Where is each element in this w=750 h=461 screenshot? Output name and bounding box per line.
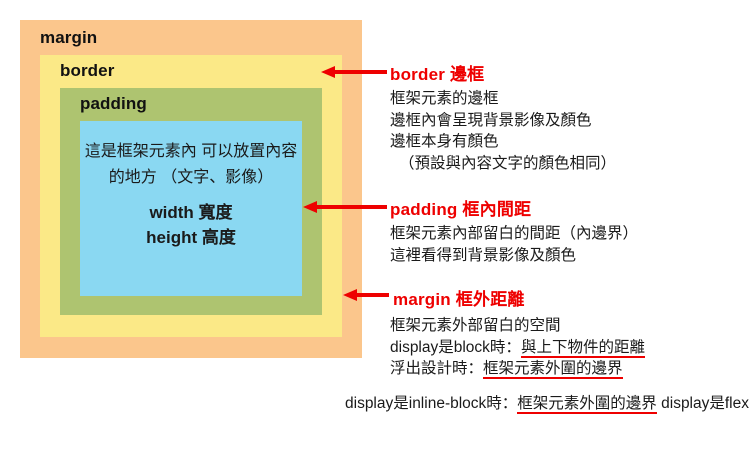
padding-annotation-heading: padding 框內間距 (390, 195, 531, 220)
border-annotation-line-2: 邊框內會呈現背景影像及顏色 (390, 110, 616, 132)
margin-annotation-body: 框架元素外部留白的空間 display是block時：與上下物件的距離 浮出設計… (390, 315, 645, 380)
margin-annotation-heading: margin 框外距離 (393, 285, 525, 310)
content-line-1: 這是框架元素內 (85, 143, 197, 160)
content-width-label: width 寬度 (80, 200, 302, 225)
padding-annotation-body: 框架元素內部留白的間距（內邊界） 這裡看得到背景影像及顏色 (390, 223, 638, 266)
border-annotation-heading: border 邊框 (390, 60, 484, 85)
border-label: border (60, 61, 114, 81)
margin-annotation-line-3: 浮出設計時：框架元素外圍的邊界 (390, 358, 645, 380)
content-height-label: height 高度 (80, 225, 302, 250)
margin-line-4-prefix: display是inline-block時： (345, 395, 517, 412)
margin-line-3-underlined: 框架元素外圍的邊界 (483, 360, 623, 379)
box-model-margin-area: margin border padding 這是框架元素內 可以放置內容的地方 … (20, 20, 362, 358)
border-annotation-line-3: 邊框本身有顏色 (390, 131, 616, 153)
border-annotation-line-4: （預設與內容文字的顏色相同） (390, 153, 616, 175)
margin-annotation-line-2: display是block時：與上下物件的距離 (390, 337, 645, 359)
margin-label: margin (40, 28, 97, 48)
content-line-3: （文字、影像） (161, 169, 273, 186)
padding-annotation-line-1: 框架元素內部留白的間距（內邊界） (390, 223, 638, 245)
margin-annotation-line-5: display是flex的子元素之間：框架元素外圍的邊界 (661, 395, 750, 414)
border-annotation-body: 框架元素的邊框 邊框內會呈現背景影像及顏色 邊框本身有顏色 （預設與內容文字的顏… (390, 88, 616, 174)
margin-line-3-prefix: 浮出設計時： (390, 360, 483, 377)
margin-line-4-underlined: 框架元素外圍的邊界 (517, 395, 657, 414)
border-annotation-line-1: 框架元素的邊框 (390, 88, 616, 110)
box-model-border-area: border padding 這是框架元素內 可以放置內容的地方 （文字、影像）… (40, 55, 342, 337)
padding-annotation-line-2: 這裡看得到背景影像及顏色 (390, 245, 638, 267)
margin-annotation-extra-body: display是inline-block時：框架元素外圍的邊界 display是… (345, 393, 750, 415)
margin-annotation-line-1: 框架元素外部留白的空間 (390, 315, 645, 337)
padding-label: padding (80, 94, 147, 114)
margin-line-2-underlined: 與上下物件的距離 (521, 339, 645, 358)
margin-line-5-prefix: display是flex的子元素之間： (661, 395, 750, 412)
content-area-text: 這是框架元素內 可以放置內容的地方 （文字、影像） width 寬度 heigh… (80, 139, 302, 250)
box-model-padding-area: padding 這是框架元素內 可以放置內容的地方 （文字、影像） width … (60, 88, 322, 315)
content-spacer (80, 191, 302, 200)
box-model-content-area: 這是框架元素內 可以放置內容的地方 （文字、影像） width 寬度 heigh… (80, 121, 302, 296)
margin-line-2-prefix: display是block時： (390, 339, 521, 356)
margin-annotation-line-4: display是inline-block時：框架元素外圍的邊界 (345, 395, 657, 414)
